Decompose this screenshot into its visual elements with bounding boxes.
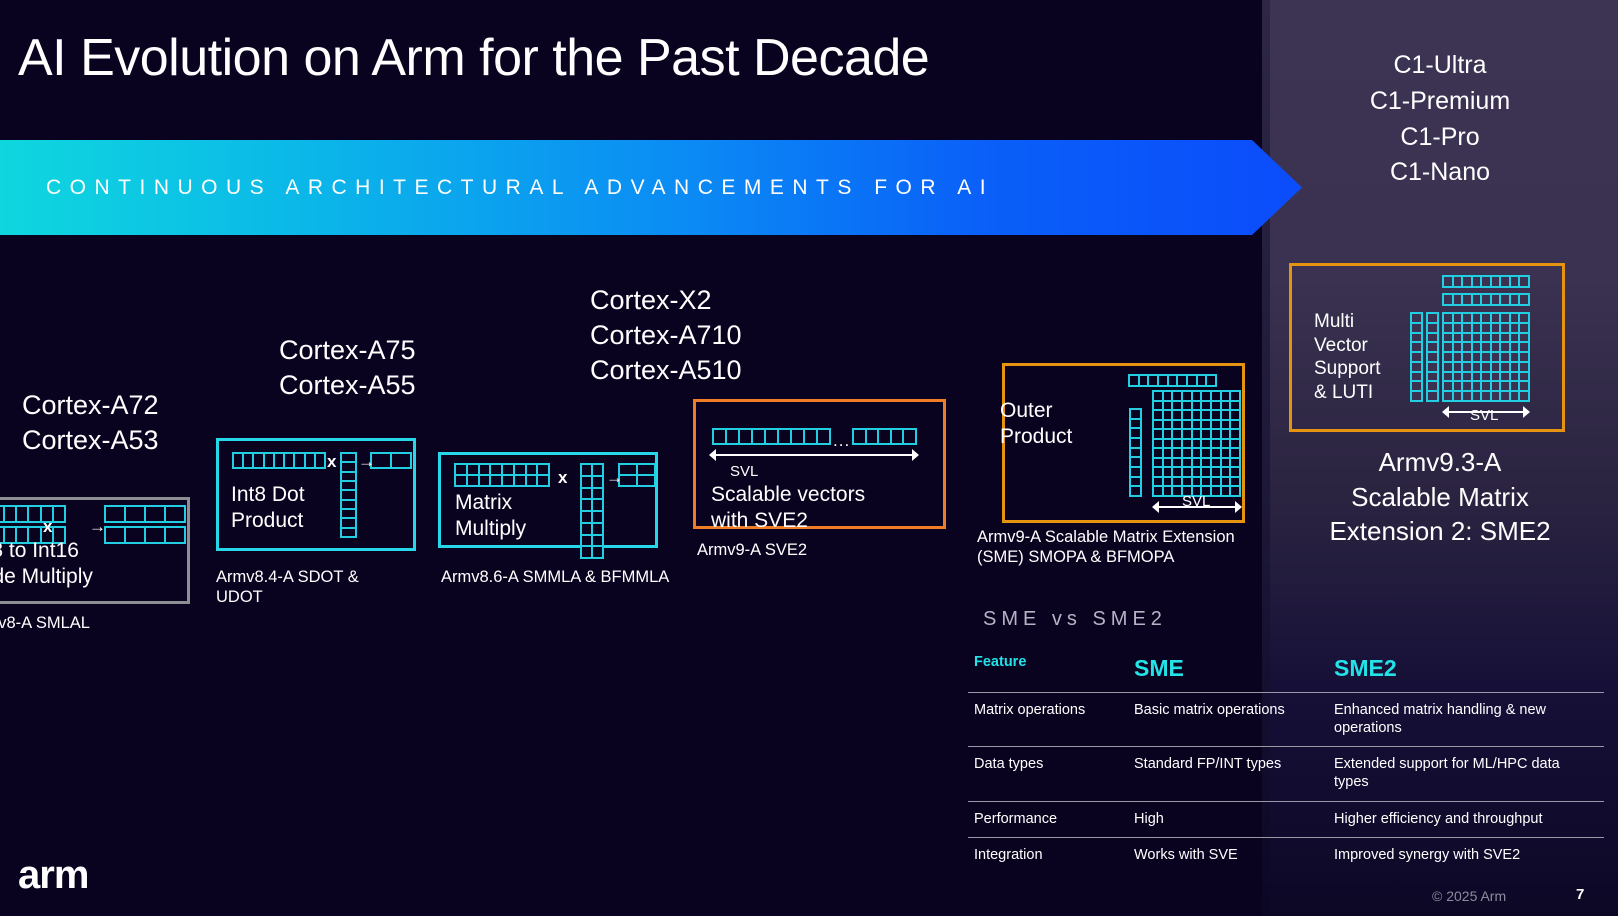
sme-tile-matrix — [1152, 390, 1241, 497]
card-label-line: Matrix — [455, 490, 526, 516]
smlal-result-row2 — [104, 526, 186, 544]
sme-svl-label: SVL — [1182, 494, 1210, 509]
sme2-row-vector-2 — [1442, 293, 1530, 306]
table-cell-sme2: Improved synergy with SVE2 — [1328, 838, 1604, 874]
c1-cpu-name: C1-Pro — [1262, 120, 1618, 156]
comparison-table: Feature SME SME2 Matrix operations Basic… — [968, 645, 1604, 874]
copyright-text: © 2025 Arm — [1432, 888, 1506, 904]
card-label-line: Product — [231, 508, 305, 534]
smmla-operand-b — [580, 463, 604, 559]
table-cell-sme: High — [1128, 801, 1328, 838]
c1-cpu-list: C1-Ultra C1-Premium C1-Pro C1-Nano — [1262, 48, 1618, 191]
card-caption-line: (SME) SMOPA & BFMOPA — [977, 547, 1235, 567]
cpu-group-2: Cortex-A75 Cortex-A55 — [279, 333, 416, 403]
card-sme-label: Outer Product — [1000, 398, 1072, 450]
table-header-sme2: SME2 — [1328, 645, 1604, 693]
sme-col-vector — [1129, 408, 1142, 497]
card-label-line: Multi — [1314, 310, 1381, 334]
card-sdot-label: Int8 Dot Product — [231, 482, 305, 534]
card-sdot-caption: Armv8.4-A SDOT & UDOT — [216, 567, 359, 607]
sve2-vector-left — [712, 428, 831, 445]
table-row: Performance High Higher efficiency and t… — [968, 801, 1604, 838]
cpu-name: Cortex-A55 — [279, 368, 416, 403]
card-sme-caption: Armv9-A Scalable Matrix Extension (SME) … — [977, 527, 1235, 567]
arrow-icon: → — [606, 469, 623, 486]
cpu-name: Cortex-A510 — [590, 353, 742, 388]
table-header-feature: Feature — [968, 645, 1128, 693]
sve2-svl-measure — [709, 448, 919, 462]
card-label-line: Scalable vectors — [711, 482, 865, 508]
card-label-line: Support — [1314, 357, 1381, 381]
card-label-line: & LUTI — [1314, 381, 1381, 405]
c1-cpu-name: C1-Premium — [1262, 84, 1618, 120]
card-label-line: Int8 to Int16 — [0, 538, 93, 564]
slide: AI Evolution on Arm for the Past Decade … — [0, 0, 1618, 916]
sme2-row-vector-1 — [1442, 275, 1530, 288]
sme2-svl-label: SVL — [1470, 408, 1498, 423]
armv93-feature-text: Armv9.3-A Scalable Matrix Extension 2: S… — [1262, 445, 1618, 549]
card-caption-line: Armv9-A Scalable Matrix Extension — [977, 527, 1235, 547]
smmla-operand-a — [454, 463, 550, 487]
c1-cpu-name: C1-Nano — [1262, 155, 1618, 191]
multiply-symbol: x — [43, 518, 52, 535]
smmla-result — [618, 463, 656, 487]
sme2-col-vector-1 — [1410, 312, 1423, 402]
sdot-operand-b — [340, 452, 357, 538]
smlal-operand-a-row1 — [0, 505, 66, 523]
table-cell-sme: Works with SVE — [1128, 838, 1328, 874]
smlal-result-row1 — [104, 505, 186, 523]
cpu-name: Cortex-A53 — [22, 423, 159, 458]
card-caption-line: Armv8.4-A SDOT & — [216, 567, 359, 587]
page-title: AI Evolution on Arm for the Past Decade — [18, 28, 929, 88]
comparison-table-title: SME vs SME2 — [983, 608, 1167, 631]
table-cell-sme: Basic matrix operations — [1128, 693, 1328, 747]
c1-cpu-name: C1-Ultra — [1262, 48, 1618, 84]
table-cell-feature: Integration — [968, 838, 1128, 874]
card-smmla-label: Matrix Multiply — [455, 490, 526, 542]
armv93-line: Extension 2: SME2 — [1262, 514, 1618, 549]
card-label-line: Wide Multiply — [0, 564, 93, 590]
arm-logo: arm — [18, 855, 88, 895]
card-label-line: Outer — [1000, 398, 1072, 424]
card-sve2-caption: Armv9-A SVE2 — [697, 540, 807, 560]
table-cell-sme2: Higher efficiency and throughput — [1328, 801, 1604, 838]
banner-label: CONTINUOUS ARCHITECTURAL ADVANCEMENTS FO… — [46, 140, 994, 235]
armv93-line: Armv9.3-A — [1262, 445, 1618, 480]
cpu-name: Cortex-A710 — [590, 318, 742, 353]
cpu-name: Cortex-X2 — [590, 283, 742, 318]
table-cell-feature: Data types — [968, 747, 1128, 801]
sme-row-vector — [1128, 374, 1217, 387]
arrow-icon: → — [358, 453, 375, 470]
sve2-ellipsis: ... — [833, 432, 850, 449]
table-cell-sme2: Enhanced matrix handling & new operation… — [1328, 693, 1604, 747]
cpu-name: Cortex-A75 — [279, 333, 416, 368]
table-cell-sme2: Extended support for ML/HPC data types — [1328, 747, 1604, 801]
sdot-operand-a — [232, 452, 326, 469]
sdot-result — [370, 452, 412, 469]
card-smmla-caption: Armv8.6-A SMMLA & BFMMLA — [441, 567, 669, 587]
cpu-group-3: Cortex-X2 Cortex-A710 Cortex-A510 — [590, 283, 742, 388]
table-cell-feature: Performance — [968, 801, 1128, 838]
table-cell-feature: Matrix operations — [968, 693, 1128, 747]
card-label-line: with SVE2 — [711, 508, 865, 534]
card-sme2-label: Multi Vector Support & LUTI — [1314, 310, 1381, 404]
card-smlal-label: Int8 to Int16 Wide Multiply — [0, 538, 93, 590]
banner: CONTINUOUS ARCHITECTURAL ADVANCEMENTS FO… — [0, 140, 1302, 235]
multiply-symbol: x — [558, 469, 567, 486]
sme2-tile-matrix — [1442, 312, 1530, 402]
armv93-line: Scalable Matrix — [1262, 480, 1618, 515]
sve2-vector-right — [852, 428, 917, 445]
sme2-col-vector-2 — [1426, 312, 1439, 402]
table-row: Matrix operations Basic matrix operation… — [968, 693, 1604, 747]
card-sve2-label: Scalable vectors with SVE2 — [711, 482, 865, 534]
sve2-svl-label: SVL — [730, 464, 758, 479]
table-header-row: Feature SME SME2 — [968, 645, 1604, 693]
page-number: 7 — [1576, 886, 1584, 903]
card-label-line: Product — [1000, 424, 1072, 450]
card-label-line: Vector — [1314, 334, 1381, 358]
card-label-line: Multiply — [455, 516, 526, 542]
table-header-sme: SME — [1128, 645, 1328, 693]
table-cell-sme: Standard FP/INT types — [1128, 747, 1328, 801]
table-row: Data types Standard FP/INT types Extende… — [968, 747, 1604, 801]
multiply-symbol: x — [327, 453, 336, 470]
card-caption-line: UDOT — [216, 587, 359, 607]
cpu-name: Cortex-A72 — [22, 388, 159, 423]
table-row: Integration Works with SVE Improved syne… — [968, 838, 1604, 874]
card-smlal-caption: Armv8-A SMLAL — [0, 613, 90, 633]
card-label-line: Int8 Dot — [231, 482, 305, 508]
arrow-icon: → — [89, 518, 106, 535]
cpu-group-1: Cortex-A72 Cortex-A53 — [22, 388, 159, 458]
